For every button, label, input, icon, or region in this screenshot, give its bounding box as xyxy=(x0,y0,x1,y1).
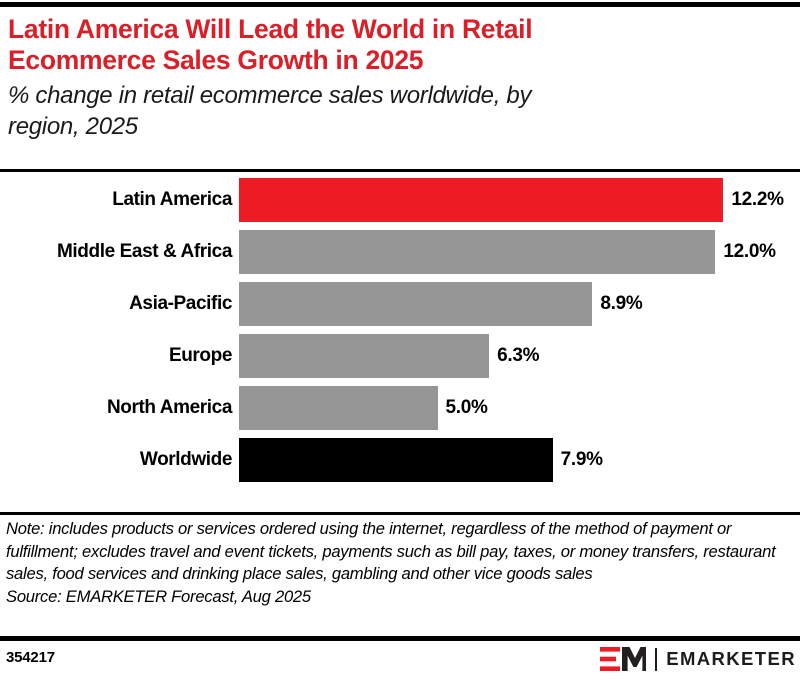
chart-title: Latin America Will Lead the World in Ret… xyxy=(8,14,768,76)
note-divider-rule xyxy=(0,512,800,515)
bar-category-label: Latin America xyxy=(0,178,232,222)
bar-value-label: 7.9% xyxy=(561,438,603,482)
header-divider-rule xyxy=(0,169,800,172)
bar-category-label: North America xyxy=(0,386,232,430)
bar-category-label: Asia-Pacific xyxy=(0,282,232,326)
chart-note-block: Note: includes products or services orde… xyxy=(6,518,794,608)
bar-category-label: Europe xyxy=(0,334,232,378)
bar-value-label: 8.9% xyxy=(600,282,642,326)
bar-row: Latin America12.2% xyxy=(0,178,800,222)
bar-row: Asia-Pacific8.9% xyxy=(0,282,800,326)
emarketer-logo[interactable]: EMARKETER xyxy=(600,646,796,672)
bar xyxy=(239,386,438,430)
bar-category-label: Middle East & Africa xyxy=(0,230,232,274)
bar-row: Worldwide7.9% xyxy=(0,438,800,482)
bar xyxy=(239,438,553,482)
chart-footer: 354217 EMARKETER xyxy=(0,646,800,676)
bar-row: Europe6.3% xyxy=(0,334,800,378)
logo-divider xyxy=(655,648,657,671)
bar-value-label: 5.0% xyxy=(446,386,488,430)
bar-value-label: 6.3% xyxy=(497,334,539,378)
chart-note: Note: includes products or services orde… xyxy=(6,518,794,586)
bar xyxy=(239,178,723,222)
bar-category-label: Worldwide xyxy=(0,438,232,482)
chart-id: 354217 xyxy=(6,649,55,666)
bar-row: Middle East & Africa12.0% xyxy=(0,230,800,274)
bar xyxy=(239,282,592,326)
chart-card: Latin America Will Lead the World in Ret… xyxy=(0,0,800,678)
bar xyxy=(239,334,489,378)
bar xyxy=(239,230,715,274)
bar-chart-plot: Latin America12.2%Middle East & Africa12… xyxy=(0,178,800,508)
chart-header: Latin America Will Lead the World in Ret… xyxy=(8,14,768,142)
top-rule xyxy=(0,2,800,7)
bar-row: North America5.0% xyxy=(0,386,800,430)
footer-rule xyxy=(0,636,800,641)
chart-subtitle: % change in retail ecommerce sales world… xyxy=(8,80,768,142)
bar-value-label: 12.2% xyxy=(731,178,783,222)
bar-value-label: 12.0% xyxy=(723,230,775,274)
chart-source: Source: EMARKETER Forecast, Aug 2025 xyxy=(6,586,794,609)
emarketer-logomark-icon xyxy=(600,647,646,671)
logo-wordmark: EMARKETER xyxy=(666,648,796,670)
